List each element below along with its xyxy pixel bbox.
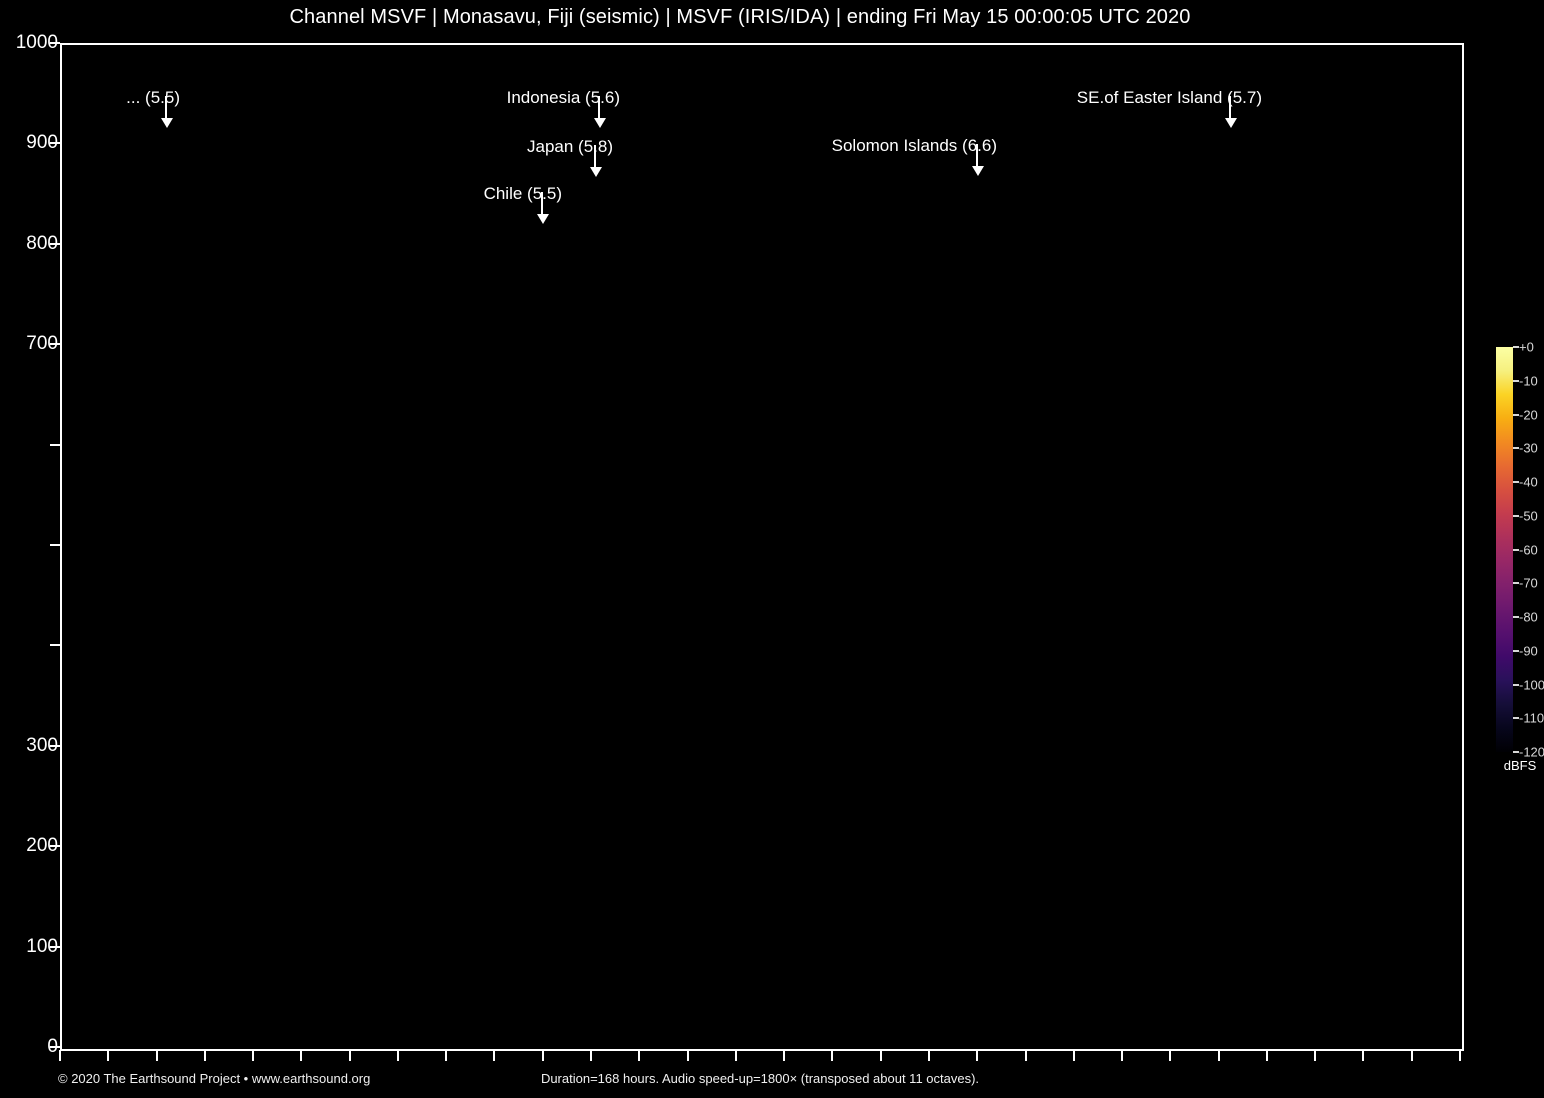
colorbar-gradient	[1496, 347, 1513, 752]
colorbar-tick-label: -40	[1519, 475, 1538, 490]
x-tick-mark	[1459, 1050, 1461, 1061]
x-tick-mark	[638, 1050, 640, 1061]
x-tick-mark	[59, 1050, 61, 1061]
colorbar-tick-label: +0	[1519, 340, 1534, 355]
y-tick-mark	[50, 644, 60, 646]
event-label: Japan (5.8)	[527, 137, 613, 157]
colorbar-tick-label: -80	[1519, 610, 1538, 625]
event-arrow-shaft	[594, 145, 596, 167]
event-arrow-head	[590, 167, 602, 177]
event-arrow-shaft	[541, 192, 543, 214]
x-tick-mark	[831, 1050, 833, 1061]
x-tick-mark	[735, 1050, 737, 1061]
y-tick-label: 300	[26, 735, 58, 757]
y-tick-label: 100	[26, 936, 58, 958]
colorbar-tick-label: -110	[1519, 711, 1544, 726]
x-tick-mark	[204, 1050, 206, 1061]
x-tick-mark	[783, 1050, 785, 1061]
colorbar-tick-label: -10	[1519, 373, 1538, 388]
y-tick-label: 700	[26, 333, 58, 355]
event-arrow-shaft	[976, 144, 978, 166]
event-arrow-shaft	[165, 96, 167, 118]
x-tick-mark	[1266, 1050, 1268, 1061]
event-label: ... (5.5)	[126, 88, 180, 108]
x-tick-mark	[1362, 1050, 1364, 1061]
x-tick-mark	[300, 1050, 302, 1061]
event-label: Solomon Islands (6.6)	[832, 136, 997, 156]
event-arrow-head	[1225, 118, 1237, 128]
colorbar-tick-label: -60	[1519, 542, 1538, 557]
x-tick-mark	[107, 1050, 109, 1061]
spectrogram-page: Channel MSVF | Monasavu, Fiji (seismic) …	[0, 0, 1544, 1098]
y-tick-label: 0	[47, 1036, 58, 1058]
y-tick-label: 200	[26, 835, 58, 857]
event-arrow-head	[594, 118, 606, 128]
x-tick-mark	[1121, 1050, 1123, 1061]
y-tick-label: 1000	[16, 32, 58, 54]
x-tick-mark	[1073, 1050, 1075, 1061]
page-title: Channel MSVF | Monasavu, Fiji (seismic) …	[0, 6, 1480, 29]
y-tick-label: 800	[26, 233, 58, 255]
x-tick-mark	[1314, 1050, 1316, 1061]
colorbar-tick-label: -20	[1519, 407, 1538, 422]
event-arrow-shaft	[598, 96, 600, 118]
event-label: Chile (5.5)	[484, 184, 562, 204]
x-tick-mark	[1411, 1050, 1413, 1061]
x-tick-mark	[590, 1050, 592, 1061]
footer-info: Duration=168 hours. Audio speed-up=1800×…	[0, 1071, 1520, 1086]
event-arrow-head	[161, 118, 173, 128]
spectrogram-plot[interactable]	[60, 43, 1464, 1051]
event-label: SE.of Easter Island (5.7)	[1077, 88, 1262, 108]
x-tick-mark	[445, 1050, 447, 1061]
x-tick-mark	[928, 1050, 930, 1061]
x-tick-mark	[1025, 1050, 1027, 1061]
colorbar-unit-label: dBFS	[1496, 758, 1544, 773]
spectrogram-canvas	[62, 45, 1462, 1049]
x-tick-mark	[880, 1050, 882, 1061]
colorbar	[1496, 347, 1513, 752]
x-tick-mark	[349, 1050, 351, 1061]
event-arrow-shaft	[1229, 96, 1231, 118]
x-tick-mark	[687, 1050, 689, 1061]
x-tick-mark	[1218, 1050, 1220, 1061]
colorbar-tick-label: -90	[1519, 643, 1538, 658]
y-tick-mark	[50, 444, 60, 446]
event-label: Indonesia (5.6)	[507, 88, 620, 108]
colorbar-tick-label: -50	[1519, 508, 1538, 523]
colorbar-tick-label: -100	[1519, 677, 1544, 692]
x-tick-mark	[397, 1050, 399, 1061]
colorbar-tick-label: -30	[1519, 441, 1538, 456]
y-tick-mark	[50, 544, 60, 546]
x-tick-mark	[542, 1050, 544, 1061]
x-tick-mark	[156, 1050, 158, 1061]
event-arrow-head	[972, 166, 984, 176]
x-tick-mark	[976, 1050, 978, 1061]
x-tick-mark	[1169, 1050, 1171, 1061]
colorbar-tick-label: -70	[1519, 576, 1538, 591]
x-tick-mark	[493, 1050, 495, 1061]
event-arrow-head	[537, 214, 549, 224]
x-tick-mark	[252, 1050, 254, 1061]
y-tick-label: 900	[26, 132, 58, 154]
